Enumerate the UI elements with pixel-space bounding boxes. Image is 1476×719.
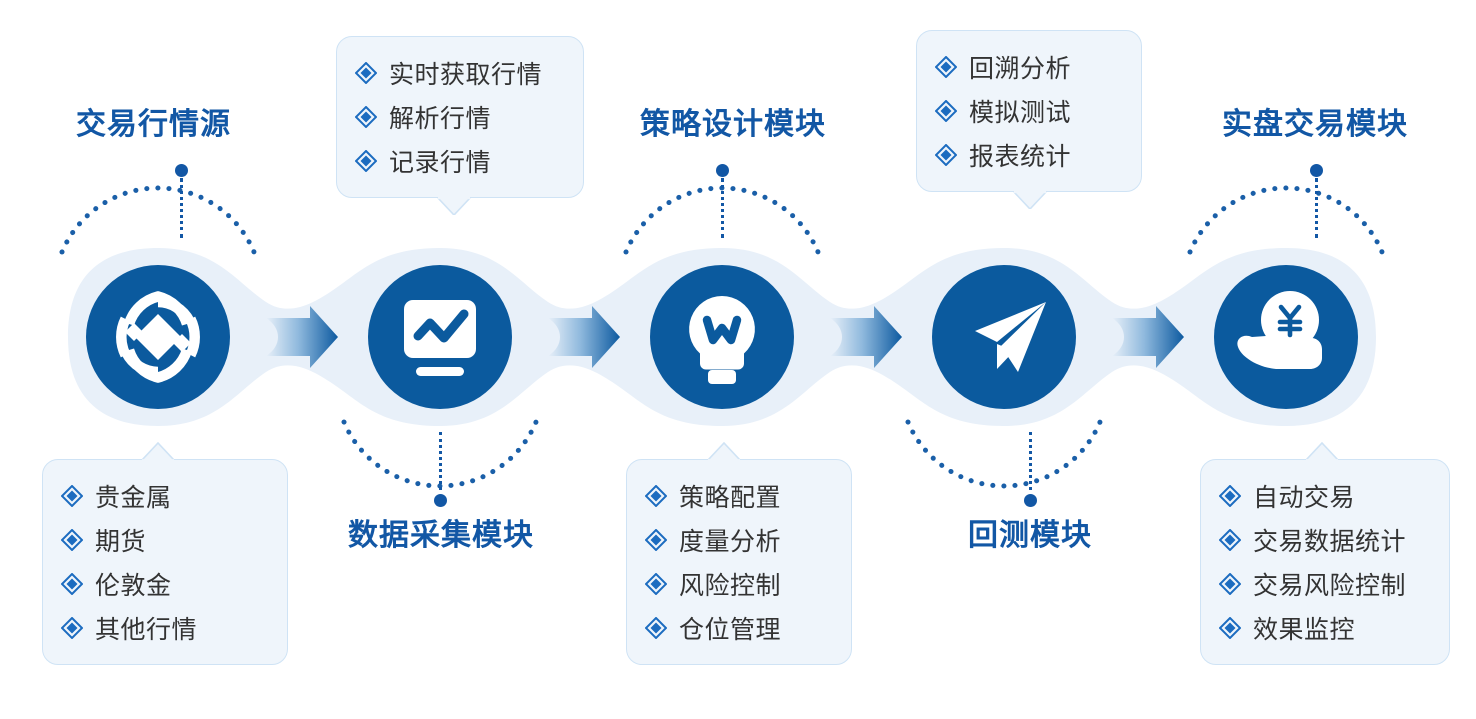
- stage-3-lead-line: [721, 178, 727, 238]
- list-item-label: 模拟测试: [969, 93, 1071, 129]
- stage-4-lead-dot: [1024, 494, 1037, 507]
- list-item[interactable]: 模拟测试: [935, 89, 1121, 133]
- stage-1-node[interactable]: [86, 265, 230, 409]
- list-item-label: 效果监控: [1253, 610, 1355, 646]
- diamond-bullet-icon: [61, 529, 83, 551]
- diamond-bullet-icon: [935, 100, 957, 122]
- stage-2-callout: 实时获取行情 解析行情 记录行情: [336, 36, 584, 198]
- list-item[interactable]: 报表统计: [935, 133, 1121, 177]
- stage-4-lead-line: [1029, 432, 1035, 490]
- stage-5-title: 实盘交易模块: [1222, 110, 1408, 140]
- diamond-bullet-icon: [645, 573, 667, 595]
- list-item-label: 交易数据统计: [1253, 522, 1406, 558]
- list-item[interactable]: 期货: [61, 518, 267, 562]
- list-item[interactable]: 贵金属: [61, 474, 267, 518]
- list-item-label: 实时获取行情: [389, 55, 542, 91]
- callout-tail: [1305, 442, 1339, 460]
- list-item-label: 记录行情: [389, 143, 491, 179]
- list-item-label: 贵金属: [95, 478, 172, 514]
- stage-1-callout: 贵金属 期货 伦敦金 其他行情: [42, 459, 288, 665]
- stage-3-lead-dot: [716, 164, 729, 177]
- diamond-bullet-icon: [645, 617, 667, 639]
- list-item-label: 策略配置: [679, 478, 781, 514]
- list-item[interactable]: 效果监控: [1219, 606, 1429, 650]
- diamond-bullet-icon: [1219, 573, 1241, 595]
- callout-tail: [1013, 191, 1047, 209]
- stage-3-title: 策略设计模块: [640, 110, 826, 140]
- list-item[interactable]: 度量分析: [645, 518, 831, 562]
- stage-1-lead-line: [180, 178, 186, 238]
- flow-diagram: 交易行情源 贵金属 期货 伦敦金 其他行情: [0, 0, 1476, 719]
- diamond-bullet-icon: [935, 56, 957, 78]
- list-item-label: 自动交易: [1253, 478, 1355, 514]
- diamond-bullet-icon: [1219, 617, 1241, 639]
- diamond-bullet-icon: [61, 485, 83, 507]
- stage-5-callout: 自动交易 交易数据统计 交易风险控制 效果监控: [1200, 459, 1450, 665]
- stage-1-lead-dot: [175, 164, 188, 177]
- stage-5-node[interactable]: [1214, 265, 1358, 409]
- diamond-bullet-icon: [935, 144, 957, 166]
- diamond-bullet-icon: [645, 485, 667, 507]
- diamond-bullet-icon: [1219, 529, 1241, 551]
- diamond-bullet-icon: [355, 106, 377, 128]
- stage-2-lead-dot: [434, 494, 447, 507]
- list-item[interactable]: 交易风险控制: [1219, 562, 1429, 606]
- list-item-label: 报表统计: [969, 137, 1071, 173]
- stage-1-title: 交易行情源: [76, 110, 231, 140]
- stage-4-callout: 回溯分析 模拟测试 报表统计: [916, 30, 1142, 192]
- list-item-label: 风险控制: [679, 566, 781, 602]
- list-item-label: 解析行情: [389, 99, 491, 135]
- list-item[interactable]: 自动交易: [1219, 474, 1429, 518]
- list-item[interactable]: 仓位管理: [645, 606, 831, 650]
- diamond-bullet-icon: [645, 529, 667, 551]
- stage-4-node[interactable]: [932, 265, 1076, 409]
- arc-top-5: [1190, 188, 1382, 252]
- stage-5-lead-line: [1315, 178, 1321, 238]
- list-item-label: 回溯分析: [969, 49, 1071, 85]
- arc-bottom-4: [908, 422, 1100, 486]
- list-item[interactable]: 记录行情: [355, 139, 563, 183]
- stage-5-lead-dot: [1310, 164, 1323, 177]
- list-item[interactable]: 解析行情: [355, 95, 563, 139]
- stage-3-callout: 策略配置 度量分析 风险控制 仓位管理: [626, 459, 852, 665]
- arc-top-1: [62, 188, 254, 252]
- stage-2-lead-line: [439, 432, 445, 490]
- list-item[interactable]: 实时获取行情: [355, 51, 563, 95]
- callout-tail: [437, 197, 471, 215]
- list-item[interactable]: 策略配置: [645, 474, 831, 518]
- list-item[interactable]: 风险控制: [645, 562, 831, 606]
- diamond-bullet-icon: [1219, 485, 1241, 507]
- diamond-bullet-icon: [355, 62, 377, 84]
- list-item[interactable]: 其他行情: [61, 606, 267, 650]
- list-item[interactable]: 交易数据统计: [1219, 518, 1429, 562]
- stage-2-title: 数据采集模块: [348, 521, 534, 551]
- diamond-bullet-icon: [355, 150, 377, 172]
- list-item-label: 伦敦金: [95, 566, 172, 602]
- stage-4-title: 回测模块: [968, 521, 1092, 551]
- stage-2-node[interactable]: [368, 265, 512, 409]
- list-item-label: 其他行情: [95, 610, 197, 646]
- list-item[interactable]: 回溯分析: [935, 45, 1121, 89]
- callout-tail: [141, 442, 175, 460]
- callout-tail: [707, 442, 741, 460]
- diamond-bullet-icon: [61, 617, 83, 639]
- list-item-label: 仓位管理: [679, 610, 781, 646]
- stage-3-node[interactable]: [650, 265, 794, 409]
- list-item-label: 交易风险控制: [1253, 566, 1406, 602]
- list-item-label: 期货: [95, 522, 146, 558]
- diamond-bullet-icon: [61, 573, 83, 595]
- list-item-label: 度量分析: [679, 522, 781, 558]
- list-item[interactable]: 伦敦金: [61, 562, 267, 606]
